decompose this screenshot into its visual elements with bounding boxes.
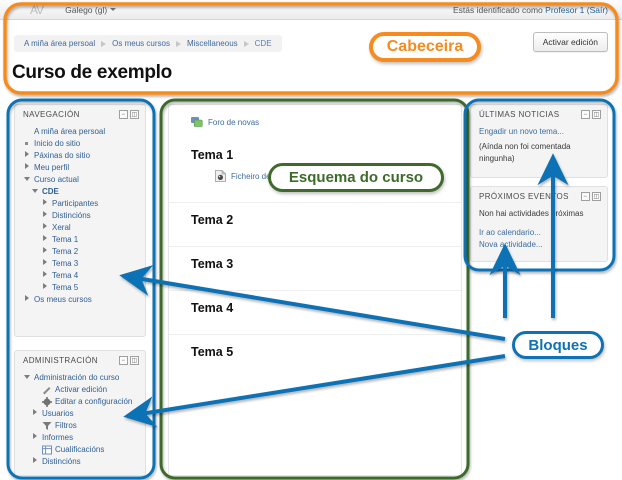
new-event-link[interactable]: Nova actividade... — [479, 239, 601, 251]
upcoming-events-block-header: PRÓXIMOS EVENTOS − ◫ — [471, 187, 607, 205]
gear-icon — [42, 397, 51, 406]
login-prefix: Estás identificado como — [453, 5, 543, 15]
dock-icon[interactable]: ◫ — [592, 192, 601, 201]
grid-icon — [42, 445, 51, 454]
nav-item-inicio-do-sitio[interactable]: Inicio do sitio — [23, 137, 139, 149]
breadcrumb-separator-icon — [176, 41, 181, 47]
upcoming-events-block-controls: − ◫ — [581, 192, 601, 201]
upcoming-events-block-title: PRÓXIMOS EVENTOS — [479, 192, 581, 201]
chevron-right-icon — [31, 409, 38, 417]
breadcrumb-item-3[interactable]: CDE — [255, 39, 272, 48]
admin-item-cualificaci-ns[interactable]: Cualificacións — [23, 443, 139, 455]
latest-news-block-header: ÚLTIMAS NOTICIAS − ◫ — [471, 105, 607, 123]
latest-news-block-title: ÚLTIMAS NOTICIAS — [479, 110, 581, 119]
nav-item-label: Inicio do sitio — [34, 139, 80, 148]
upcoming-events-empty-text: Non hai actividades próximas — [479, 207, 601, 221]
nav-item-label: Meu perfil — [34, 163, 69, 172]
nav-item-label: Curso actual — [34, 175, 79, 184]
admin-item-distinci-ns[interactable]: Distincións — [23, 455, 139, 467]
chevron-right-icon — [23, 295, 30, 303]
admin-item-label: Administración do curso — [34, 373, 119, 382]
collapse-icon[interactable]: − — [581, 110, 590, 119]
admin-item-informes[interactable]: Informes — [23, 431, 139, 443]
latest-news-empty-text: (Aínda non foi comentada ningunha) — [479, 137, 601, 165]
nav-item-p-xinas-do-sitio[interactable]: Páxinas do sitio — [23, 149, 139, 161]
nav-item-a-mi-a-rea-persoal[interactable]: A miña área persoal — [23, 125, 139, 137]
administration-block-title: ADMINISTRACIÓN — [23, 356, 119, 365]
dock-icon[interactable]: ◫ — [130, 110, 139, 119]
language-label: Galego (gl) — [65, 5, 107, 15]
nav-item-label: Os meus cursos — [34, 295, 92, 304]
collapse-icon[interactable]: − — [119, 110, 128, 119]
nav-item-tema-2[interactable]: Tema 2 — [23, 245, 139, 257]
nav-item-participantes[interactable]: Participantes — [23, 197, 139, 209]
chevron-right-icon — [23, 163, 30, 171]
chevron-down-icon — [23, 374, 30, 381]
course-layout-callout-pill: Esquema do curso — [268, 163, 444, 192]
chevron-down-icon — [31, 188, 38, 195]
moodle-course-page: AV Galego (gl) Estás identificado como P… — [0, 0, 622, 480]
nav-item-label: Tema 1 — [52, 235, 78, 244]
login-info: Estás identificado como Profesor 1 (Saír… — [453, 5, 608, 15]
admin-item-label: Activar edición — [55, 385, 107, 394]
nav-item-label: Tema 5 — [52, 283, 78, 292]
admin-item-usuarios[interactable]: Usuarios — [23, 407, 139, 419]
pencil-icon — [42, 385, 51, 394]
admin-item-label: Cualificacións — [55, 445, 104, 454]
breadcrumb-item-2[interactable]: Miscellaneous — [187, 39, 238, 48]
tree-spacer — [23, 128, 30, 135]
upcoming-events-block: PRÓXIMOS EVENTOS − ◫ Non hai actividades… — [470, 186, 608, 262]
admin-item-label: Distincións — [42, 457, 81, 466]
nav-item-tema-4[interactable]: Tema 4 — [23, 269, 139, 281]
nav-item-os-meus-cursos[interactable]: Os meus cursos — [23, 293, 139, 305]
nav-item-label: Xeral — [52, 223, 71, 232]
administration-block-controls: − ◫ — [119, 356, 139, 365]
course-section-title: Tema 3 — [191, 257, 461, 271]
breadcrumb-item-1[interactable]: Os meus cursos — [112, 39, 170, 48]
course-section-title: Tema 2 — [191, 213, 461, 227]
top-utility-bar: AV Galego (gl) Estás identificado como P… — [0, 0, 622, 20]
tree-spacer — [31, 398, 38, 405]
navigation-block-title: NAVEGACIÓN — [23, 110, 119, 119]
language-selector[interactable]: Galego (gl) — [65, 5, 116, 15]
course-section-title: Tema 1 — [191, 148, 461, 162]
breadcrumb-separator-icon — [101, 41, 106, 47]
chevron-down-icon — [110, 8, 116, 11]
admin-item-label: Usuarios — [42, 409, 74, 418]
breadcrumb-separator-icon — [244, 41, 249, 47]
nav-item-label: Distincións — [52, 211, 91, 220]
nav-item-label: Tema 4 — [52, 271, 78, 280]
tree-spacer — [31, 446, 38, 453]
admin-item-label: Informes — [42, 433, 73, 442]
dock-icon[interactable]: ◫ — [130, 356, 139, 365]
admin-item-label: Editar a configuración — [55, 397, 132, 406]
filter-icon — [42, 421, 51, 430]
chevron-right-icon — [41, 223, 48, 231]
nav-item-tema-5[interactable]: Tema 5 — [23, 281, 139, 293]
chevron-right-icon — [41, 259, 48, 267]
navigation-tree: A miña área persoalInicio do sitioPáxina… — [15, 123, 145, 312]
chevron-right-icon — [31, 433, 38, 441]
administration-tree: Administración do curso Activar edición … — [15, 369, 145, 474]
nav-item-tema-3[interactable]: Tema 3 — [23, 257, 139, 269]
dock-icon[interactable]: ◫ — [592, 110, 601, 119]
tree-spacer — [31, 422, 38, 429]
header-callout-pill: Cabeceira — [369, 32, 481, 62]
navigation-block-header: NAVEGACIÓN − ◫ — [15, 105, 145, 123]
chevron-right-icon — [31, 457, 38, 465]
collapse-icon[interactable]: − — [119, 356, 128, 365]
breadcrumb: A miña área persoal Os meus cursos Misce… — [14, 35, 282, 52]
latest-news-block: ÚLTIMAS NOTICIAS − ◫ Engadir un novo tem… — [470, 104, 608, 178]
course-section: Tema 3 — [169, 246, 461, 290]
site-logo: AV — [30, 3, 43, 17]
chevron-right-icon — [41, 211, 48, 219]
nav-item-label: Páxinas do sitio — [34, 151, 90, 160]
file-icon — [215, 170, 226, 182]
chevron-right-icon — [41, 271, 48, 279]
nav-item-label: A miña área persoal — [34, 127, 105, 136]
latest-news-block-controls: − ◫ — [581, 110, 601, 119]
user-profile-link[interactable]: Profesor 1 — [545, 5, 584, 15]
breadcrumb-item-0[interactable]: A miña área persoal — [24, 39, 95, 48]
go-to-calendar-link[interactable]: Ir ao calendario... — [479, 227, 601, 239]
logout-link[interactable]: (Saír) — [587, 5, 608, 15]
forum-icon — [191, 117, 203, 128]
course-content-area: Foro de novas Tema 1Ficheiro de probaTem… — [168, 104, 462, 476]
collapse-icon[interactable]: − — [581, 192, 590, 201]
forum-activity-link[interactable]: Foro de novas — [191, 117, 461, 128]
course-section: Tema 2 — [169, 202, 461, 246]
nav-item-label: Tema 2 — [52, 247, 78, 256]
course-section: Tema 5 — [169, 334, 461, 378]
admin-item-editar-a-configuraci-n[interactable]: Editar a configuración — [23, 395, 139, 407]
section-general: Foro de novas — [169, 105, 461, 138]
page-header: A miña área persoal Os meus cursos Misce… — [0, 20, 622, 95]
forum-activity-label: Foro de novas — [208, 118, 259, 127]
navigation-block-controls: − ◫ — [119, 110, 139, 119]
latest-news-body: Engadir un novo tema... (Aínda non foi c… — [471, 123, 607, 172]
add-new-topic-link[interactable]: Engadir un novo tema... — [479, 125, 601, 137]
tree-spacer — [31, 386, 38, 393]
nav-item-curso-actual[interactable]: Curso actual — [23, 173, 139, 185]
chevron-right-icon — [41, 235, 48, 243]
bullet-icon — [23, 140, 30, 147]
chevron-right-icon — [41, 199, 48, 207]
admin-item-activar-edici-n[interactable]: Activar edición — [23, 383, 139, 395]
nav-item-xeral[interactable]: Xeral — [23, 221, 139, 233]
nav-item-distinci-ns[interactable]: Distincións — [23, 209, 139, 221]
administration-block-header: ADMINISTRACIÓN − ◫ — [15, 351, 145, 369]
chevron-right-icon — [41, 283, 48, 291]
chevron-right-icon — [23, 151, 30, 159]
admin-item-administraci-n-do-curso[interactable]: Administración do curso — [23, 371, 139, 383]
admin-item-filtros[interactable]: Filtros — [23, 419, 139, 431]
nav-item-label: CDE — [42, 187, 59, 196]
blocks-callout-pill: Bloques — [512, 331, 604, 359]
chevron-right-icon — [41, 247, 48, 255]
nav-item-meu-perfil[interactable]: Meu perfil — [23, 161, 139, 173]
nav-item-label: Participantes — [52, 199, 98, 208]
administration-block: ADMINISTRACIÓN − ◫ Administración do cur… — [14, 350, 146, 476]
admin-item-label: Filtros — [55, 421, 77, 430]
page-title: Curso de exemplo — [12, 62, 172, 84]
nav-item-tema-1[interactable]: Tema 1 — [23, 233, 139, 245]
course-section: Tema 4 — [169, 290, 461, 334]
course-section-title: Tema 4 — [191, 301, 461, 315]
activate-editing-button[interactable]: Activar edición — [533, 32, 608, 52]
course-section-title: Tema 5 — [191, 345, 461, 359]
chevron-down-icon — [23, 176, 30, 183]
nav-item-label: Tema 3 — [52, 259, 78, 268]
nav-item-cde[interactable]: CDE — [23, 185, 139, 197]
upcoming-events-body: Non hai actividades próximas Ir ao calen… — [471, 205, 607, 258]
navigation-block: NAVEGACIÓN − ◫ A miña área persoalInicio… — [14, 104, 146, 337]
